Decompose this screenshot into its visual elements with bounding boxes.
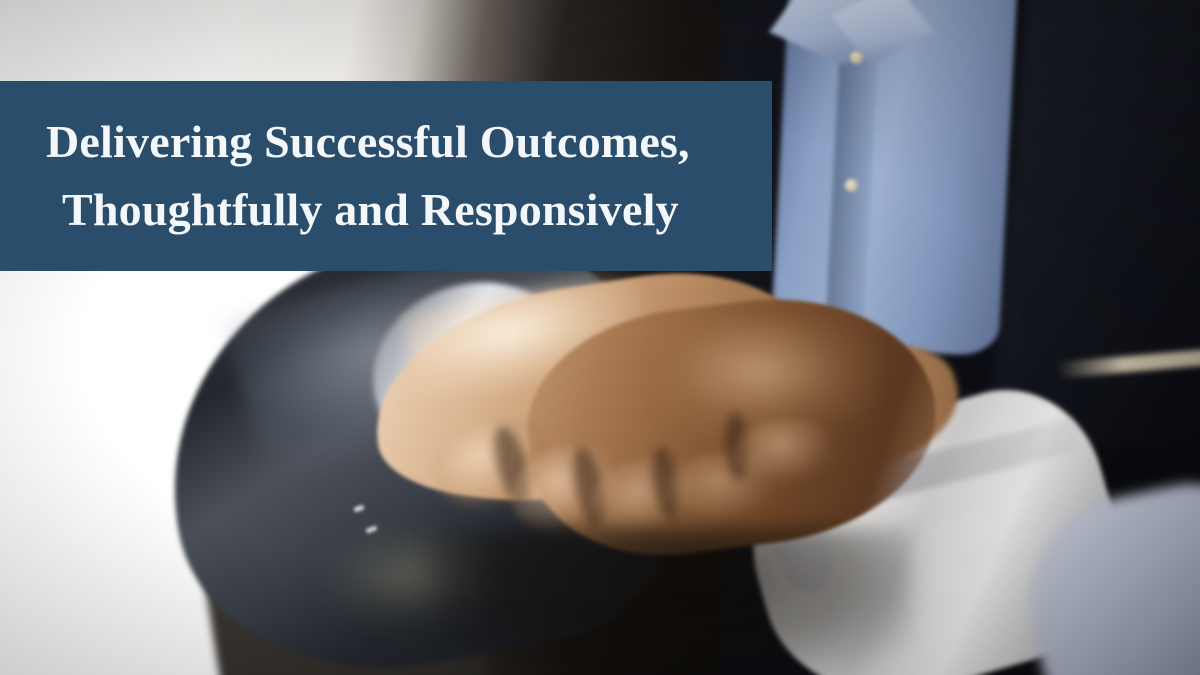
slide-canvas: Delivering Successful Outcomes, Thoughtf… — [0, 0, 1200, 675]
shirt-button-upper — [850, 51, 863, 64]
handshake-shadow — [432, 527, 912, 675]
shirt-button-lower — [845, 179, 858, 192]
title-banner: Delivering Successful Outcomes, Thoughtf… — [0, 81, 772, 271]
title-line-1: Delivering Successful Outcomes, — [46, 108, 772, 176]
title-line-2: Thoughtfully and Responsively — [46, 176, 772, 244]
